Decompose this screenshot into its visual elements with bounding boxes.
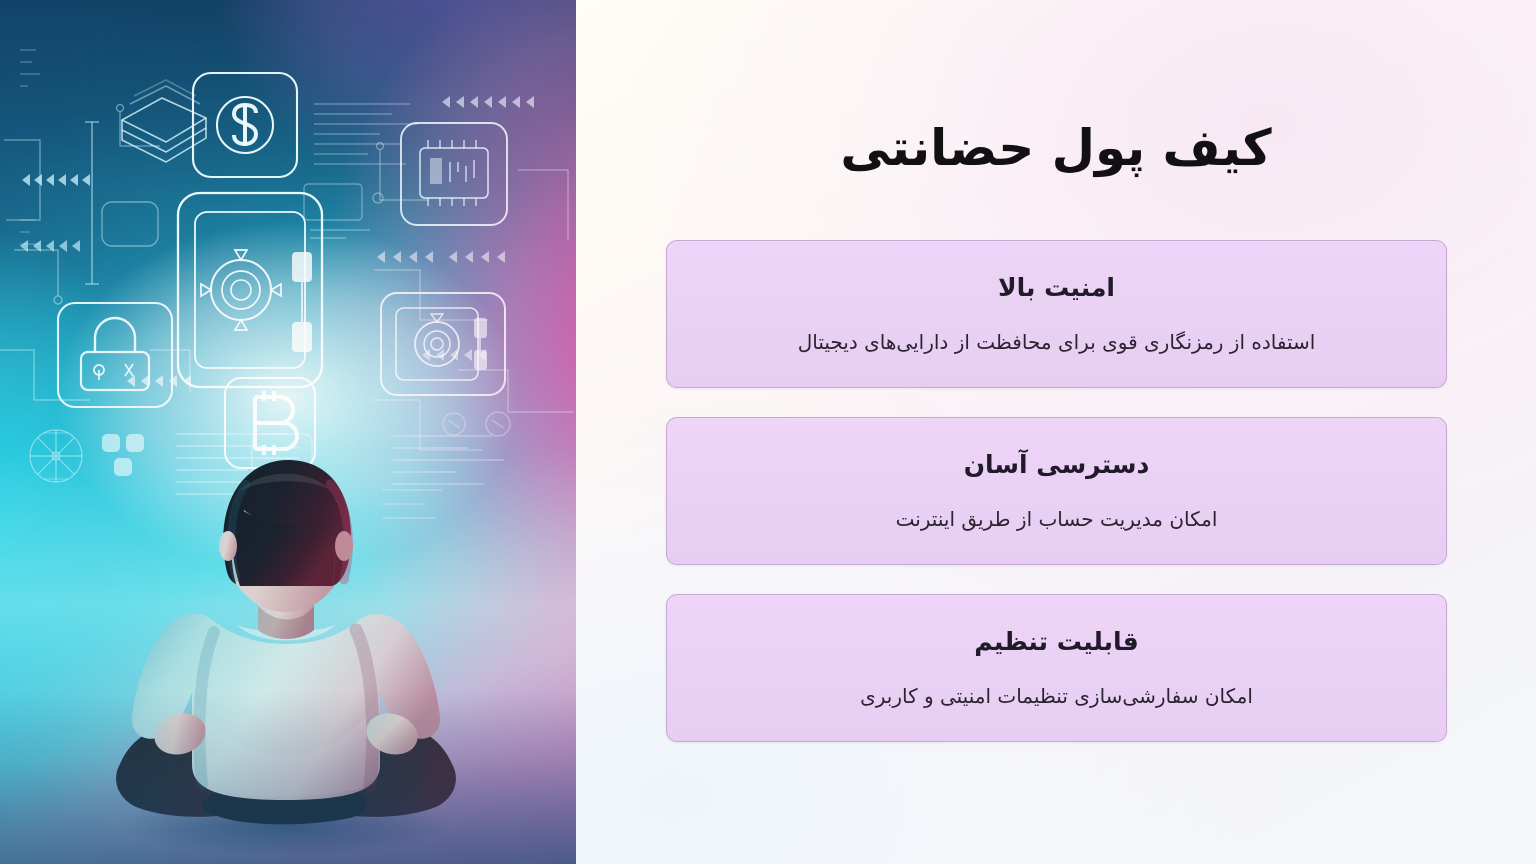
feature-card[interactable]: دسترسی آسان امکان مدیریت حساب از طریق ای… <box>666 417 1447 565</box>
feature-card-description: امکان مدیریت حساب از طریق اینترنت <box>896 505 1218 534</box>
illustration-bottom-shade <box>0 0 576 864</box>
illustration-pane <box>0 0 576 864</box>
feature-card-title: قابلیت تنظیم <box>974 625 1138 659</box>
feature-card[interactable]: قابلیت تنظیم امکان سفارشی‌سازی تنظیمات ا… <box>666 594 1447 742</box>
page-title: کیف پول حضانتی <box>576 118 1536 178</box>
content-pane: کیف پول حضانتی امنیت بالا استفاده از رمز… <box>576 0 1536 864</box>
feature-card-description: استفاده از رمزنگاری قوی برای محافظت از د… <box>798 328 1316 357</box>
slide-root: کیف پول حضانتی امنیت بالا استفاده از رمز… <box>0 0 1536 864</box>
feature-card-title: امنیت بالا <box>998 271 1115 305</box>
feature-card-description: امکان سفارشی‌سازی تنظیمات امنیتی و کاربر… <box>860 682 1253 711</box>
feature-card-list: امنیت بالا استفاده از رمزنگاری قوی برای … <box>666 240 1447 742</box>
feature-card-title: دسترسی آسان <box>964 448 1150 482</box>
feature-card[interactable]: امنیت بالا استفاده از رمزنگاری قوی برای … <box>666 240 1447 388</box>
